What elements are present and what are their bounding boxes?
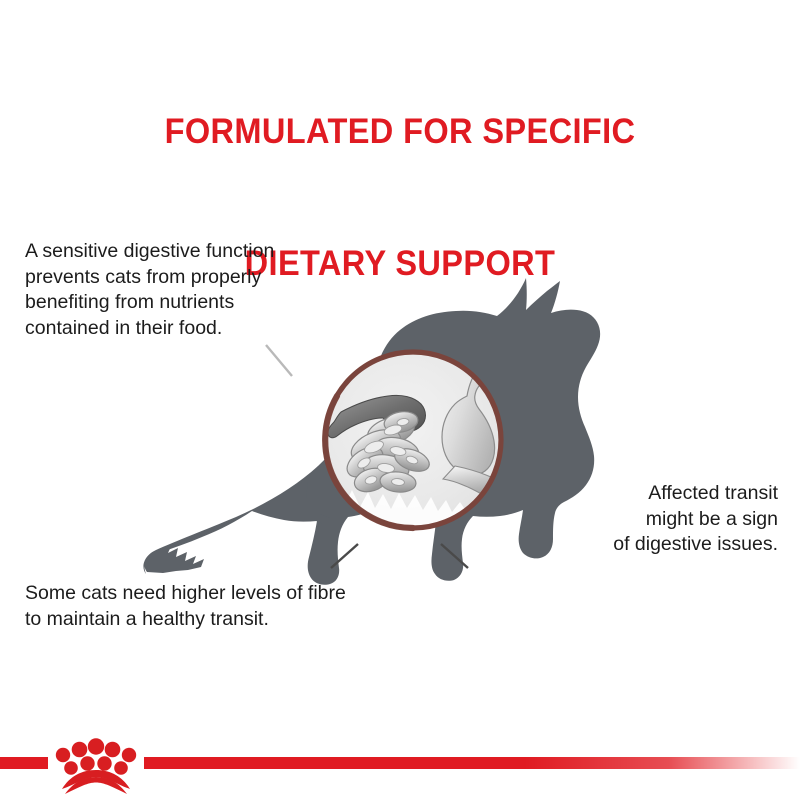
page-title-line-1: FORMULATED FOR SPECIFIC	[28, 110, 772, 154]
brand-bar-right	[144, 757, 800, 769]
callout-right: Affected transit might be a sign of dige…	[448, 481, 778, 558]
leader-top-left-diagonal	[266, 345, 292, 376]
brand-bar-left-stub	[0, 757, 48, 769]
footer-svg	[0, 720, 800, 800]
callout-bottom-left: Some cats need higher levels of fibre to…	[25, 581, 455, 632]
promo-panel: FORMULATED FOR SPECIFIC DIETARY SUPPORT	[0, 0, 800, 800]
footer-brand-bar	[0, 720, 800, 800]
royal-canin-crown-paw-logo	[56, 738, 136, 794]
callout-top-left: A sensitive digestive function prevents …	[25, 239, 365, 341]
